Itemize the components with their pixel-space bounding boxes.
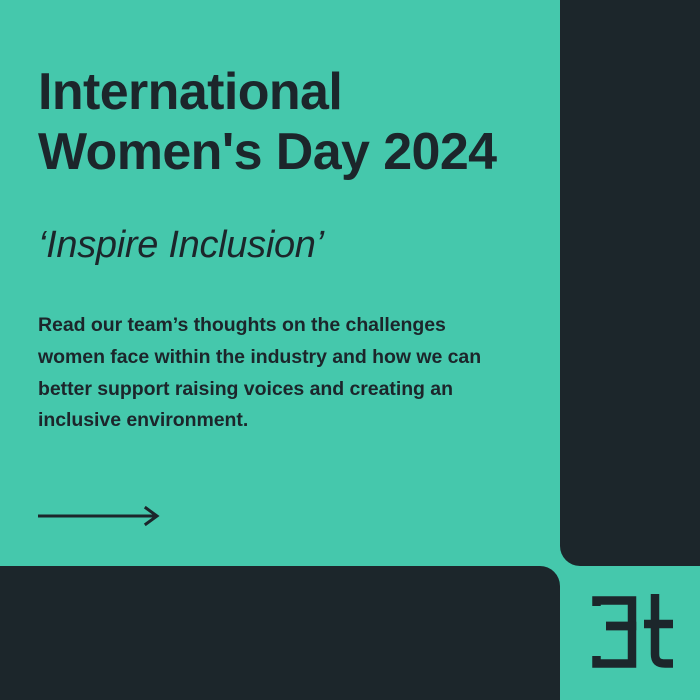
read-more-link[interactable] <box>38 503 162 529</box>
social-card: International Women's Day 2024 ‘Inspire … <box>0 0 700 700</box>
3t-logo <box>592 592 678 672</box>
body-text: Read our team’s thoughts on the challeng… <box>38 266 516 436</box>
campaign-theme: ‘Inspire Inclusion’ <box>38 183 538 267</box>
page-title: International Women's Day 2024 <box>38 0 538 183</box>
bottom-dark-panel <box>0 566 560 700</box>
right-dark-panel <box>560 0 700 566</box>
card-content: International Women's Day 2024 ‘Inspire … <box>38 0 538 437</box>
3t-logo-mark <box>592 592 678 672</box>
arrow-right-icon <box>38 503 162 529</box>
